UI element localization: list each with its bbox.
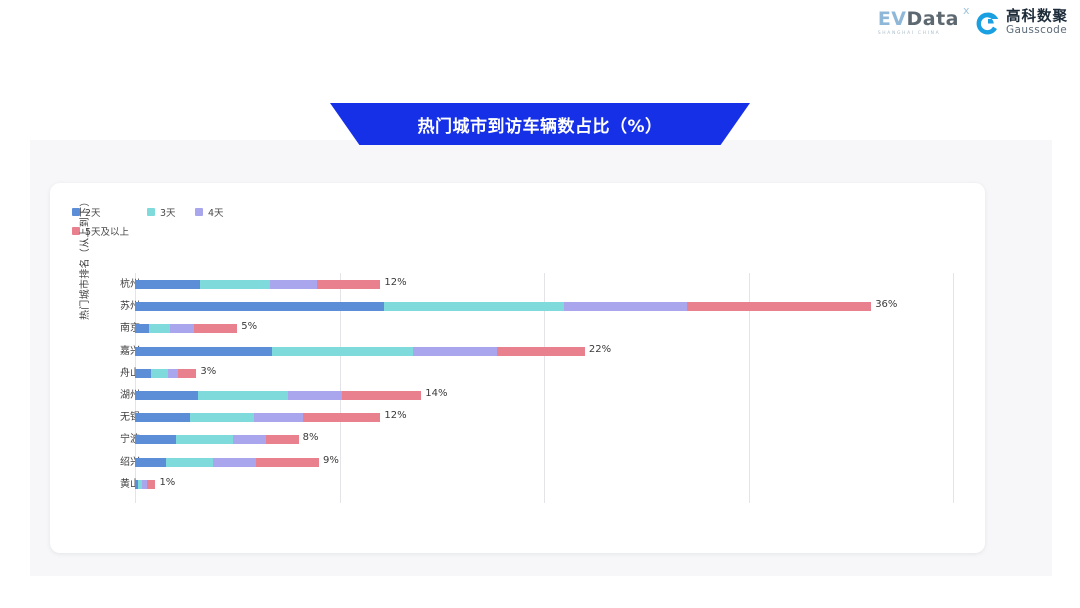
bar-segment-3[interactable] (233, 435, 266, 444)
y-axis-tick-label: 湖州 (80, 390, 140, 402)
bar-segment-4[interactable] (266, 435, 299, 444)
bar-segment-4[interactable] (317, 280, 380, 289)
evdata-wordmark-data: Data (907, 8, 960, 30)
gausscode-mark-icon (975, 11, 1000, 36)
bar-value-label: 14% (425, 388, 447, 399)
bar-segment-4[interactable] (303, 413, 381, 422)
chart-row: 舟山3% (50, 368, 985, 390)
bar-segment-2[interactable] (166, 458, 213, 467)
gausscode-name-cn: 高科数聚 (1006, 10, 1068, 25)
evdata-wordmark: EVDatax (878, 10, 959, 29)
bar-segment-2[interactable] (198, 391, 288, 400)
header-logos: EVDatax SHANGHAI CHINA 高科数聚 Gausscode (878, 10, 1068, 36)
bar-segment-3[interactable] (413, 347, 497, 356)
y-axis-tick-label: 宁波 (80, 434, 140, 446)
bar-segment-4[interactable] (342, 391, 422, 400)
bar-segment-2[interactable] (176, 435, 233, 444)
bar-value-label: 12% (384, 410, 406, 421)
chart-row: 湖州14% (50, 390, 985, 412)
gausscode-name-en: Gausscode (1006, 25, 1068, 36)
stacked-bar[interactable] (135, 391, 421, 400)
chart-row: 无锡12% (50, 412, 985, 434)
y-axis-tick-label: 黄山 (80, 479, 140, 491)
bar-value-label: 8% (303, 432, 319, 443)
bar-segment-1[interactable] (135, 413, 190, 422)
y-axis-tick-label: 南京 (80, 323, 140, 335)
slide-title-banner: 热门城市到访车辆数占比（%） (330, 103, 750, 145)
bar-value-label: 3% (200, 366, 216, 377)
bar-segment-4[interactable] (178, 369, 196, 378)
stacked-bar[interactable] (135, 302, 871, 311)
stacked-bar[interactable] (135, 458, 319, 467)
y-axis-tick-label: 绍兴 (80, 457, 140, 469)
bar-value-label: 1% (159, 477, 175, 488)
y-axis-tick-label: 舟山 (80, 368, 140, 380)
bar-segment-1[interactable] (135, 324, 149, 333)
stacked-bar[interactable] (135, 324, 237, 333)
page-title: 热门城市到访车辆数占比（%） (417, 112, 662, 137)
bar-segment-1[interactable] (135, 391, 198, 400)
bar-segment-3[interactable] (270, 280, 317, 289)
bar-segment-1[interactable] (135, 280, 200, 289)
bar-segment-4[interactable] (147, 480, 155, 489)
bar-segment-3[interactable] (564, 302, 687, 311)
bar-segment-1[interactable] (135, 347, 272, 356)
chart-row: 南京5% (50, 323, 985, 345)
bar-value-label: 9% (323, 455, 339, 466)
bar-segment-4[interactable] (194, 324, 237, 333)
stacked-bar[interactable] (135, 280, 380, 289)
stacked-bar[interactable] (135, 369, 196, 378)
bar-segment-1[interactable] (135, 302, 384, 311)
y-axis-tick-label: 苏州 (80, 301, 140, 313)
bar-segment-3[interactable] (170, 324, 195, 333)
bar-segment-2[interactable] (384, 302, 564, 311)
chart-row: 绍兴9% (50, 457, 985, 479)
bar-segment-2[interactable] (151, 369, 167, 378)
bar-segment-4[interactable] (256, 458, 319, 467)
bar-segment-2[interactable] (272, 347, 413, 356)
evdata-superscript: x (963, 5, 970, 16)
chart-row: 嘉兴22% (50, 346, 985, 368)
bar-segment-1[interactable] (135, 435, 176, 444)
evdata-wordmark-ev: EV (878, 8, 907, 30)
chart-card: 2天3天4天5天及以上 热门城市排名（从上到下） 杭州12%苏州36%南京5%嘉… (50, 183, 985, 553)
stacked-bar[interactable] (135, 435, 299, 444)
bar-segment-1[interactable] (135, 458, 166, 467)
bar-segment-3[interactable] (213, 458, 256, 467)
chart-plot-area: 热门城市排名（从上到下） 杭州12%苏州36%南京5%嘉兴22%舟山3%湖州14… (50, 183, 985, 553)
chart-row: 杭州12% (50, 279, 985, 301)
bar-segment-2[interactable] (190, 413, 253, 422)
gausscode-text: 高科数聚 Gausscode (1006, 10, 1068, 36)
stacked-bar[interactable] (135, 480, 155, 489)
bar-segment-2[interactable] (149, 324, 169, 333)
y-axis-tick-label: 无锡 (80, 412, 140, 424)
slide-root: EVDatax SHANGHAI CHINA 高科数聚 Gausscode 热门… (0, 0, 1080, 608)
bar-value-label: 12% (384, 277, 406, 288)
bar-segment-3[interactable] (254, 413, 303, 422)
stacked-bar[interactable] (135, 347, 585, 356)
bar-segment-3[interactable] (168, 369, 178, 378)
y-axis-tick-label: 杭州 (80, 279, 140, 291)
bar-value-label: 36% (875, 299, 897, 310)
bar-segment-4[interactable] (687, 302, 871, 311)
stacked-bar[interactable] (135, 413, 380, 422)
chart-row: 苏州36% (50, 301, 985, 323)
bar-segment-2[interactable] (200, 280, 270, 289)
chart-row: 宁波8% (50, 434, 985, 456)
evdata-logo: EVDatax SHANGHAI CHINA (878, 10, 959, 36)
chart-bar-rows: 杭州12%苏州36%南京5%嘉兴22%舟山3%湖州14%无锡12%宁波8%绍兴9… (50, 279, 985, 501)
bar-segment-1[interactable] (135, 369, 151, 378)
bar-value-label: 5% (241, 321, 257, 332)
gausscode-logo: 高科数聚 Gausscode (975, 10, 1068, 36)
bar-segment-3[interactable] (288, 391, 341, 400)
y-axis-tick-label: 嘉兴 (80, 346, 140, 358)
bar-value-label: 22% (589, 344, 611, 355)
bar-segment-4[interactable] (497, 347, 585, 356)
chart-row: 黄山1% (50, 479, 985, 501)
evdata-tagline: SHANGHAI CHINA (878, 31, 941, 36)
